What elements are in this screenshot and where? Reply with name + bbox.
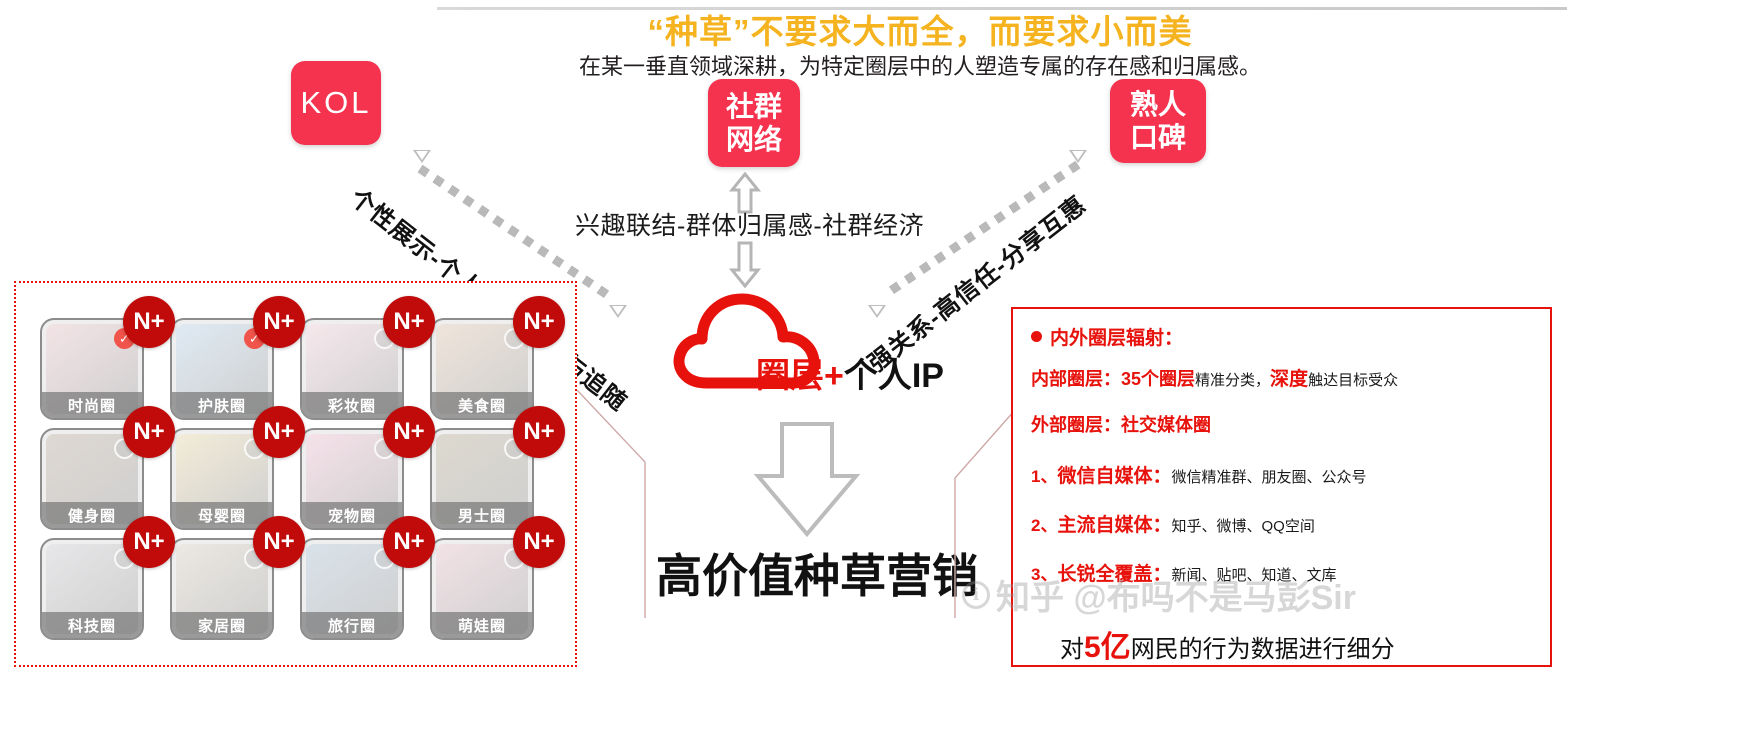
info-item-number: 3、 [1031, 565, 1057, 584]
circle-card-grid: ✓时尚圈N+✓护肤圈N+彩妆圈N+美食圈N+健身圈N+母婴圈N+宠物圈N+男士圈… [40, 318, 550, 664]
card-slot: 萌娃圈N+ [430, 538, 548, 646]
info-item-separator: ： [1152, 564, 1171, 585]
inner-circle-label: 内部圈层： [1031, 369, 1121, 389]
info-item-separator: ： [1152, 466, 1171, 487]
arrowhead-left-top-icon [413, 150, 431, 163]
card-badge-n-plus[interactable]: N+ [123, 296, 175, 348]
card-badge-n-plus[interactable]: N+ [123, 406, 175, 458]
inner-circle-mid: 精准分类， [1195, 372, 1270, 389]
middle-connector-label: 兴趣联结-群体归属感-社群经济 [575, 206, 924, 242]
arrow-down-icon [729, 240, 761, 288]
footer-number: 5亿 [1084, 631, 1131, 664]
arrowhead-right-bottom-icon [868, 305, 886, 318]
footer-note: 对5亿网民的行为数据进行细分 [1060, 622, 1530, 666]
card-label: 美食圈 [432, 392, 532, 418]
node-kol-label: KOL [300, 85, 371, 121]
info-panel: 内外圈层辐射： 内部圈层：35个圈层精准分类，深度触达目标受众 外部圈层：社交媒… [1011, 307, 1552, 667]
node-kol[interactable]: KOL [291, 61, 381, 145]
info-panel-item: 2、主流自媒体：知乎、微博、QQ空间 [1031, 510, 1534, 537]
card-label: 旅行圈 [302, 612, 402, 638]
info-item-value: 新闻、贴吧、知道、文库 [1172, 567, 1337, 584]
card-label: 护肤圈 [172, 392, 272, 418]
card-slot: 旅行圈N+ [300, 538, 418, 646]
card-label: 萌娃圈 [432, 612, 532, 638]
card-label: 母婴圈 [172, 502, 272, 528]
card-label: 家居圈 [172, 612, 272, 638]
card-badge-n-plus[interactable]: N+ [253, 516, 305, 568]
info-panel-heading-text: 内外圈层辐射： [1050, 323, 1183, 350]
info-panel-item: 1、微信自媒体：微信精准群、朋友圈、公众号 [1031, 461, 1534, 488]
arrowhead-left-bottom-icon [609, 305, 627, 318]
card-label: 时尚圈 [42, 392, 142, 418]
card-label: 男士圈 [432, 502, 532, 528]
inner-circle-tail: 触达目标受众 [1308, 372, 1398, 389]
card-badge-n-plus[interactable]: N+ [513, 516, 565, 568]
card-slot: 科技圈N+ [40, 538, 158, 646]
card-badge-n-plus[interactable]: N+ [383, 516, 435, 568]
info-item-name: 长锐全覆盖 [1057, 564, 1152, 585]
card-badge-n-plus[interactable]: N+ [253, 406, 305, 458]
info-item-separator: ： [1152, 515, 1171, 536]
card-badge-n-plus[interactable]: N+ [513, 406, 565, 458]
inner-circle-emphasis: 深度 [1270, 369, 1308, 390]
node-community-network[interactable]: 社群 网络 [708, 79, 800, 167]
node-wom-line1: 熟人 [1130, 88, 1186, 121]
info-item-value: 知乎、微博、QQ空间 [1172, 518, 1315, 535]
slide-canvas: “种草”不要求大而全，而要求小而美 在某一垂直领域深耕，为特定圈层中的人塑造专属… [0, 0, 1756, 752]
page-subtitle: 在某一垂直领域深耕，为特定圈层中的人塑造专属的存在感和归属感。 [420, 49, 1420, 81]
card-label: 科技圈 [42, 612, 142, 638]
inner-circle-count: 35个圈层 [1121, 369, 1195, 389]
info-item-name: 主流自媒体 [1057, 515, 1152, 536]
panel-connector-lines [575, 390, 1045, 620]
node-community-line2: 网络 [726, 123, 782, 156]
card-badge-n-plus[interactable]: N+ [383, 406, 435, 458]
page-title: “种草”不要求大而全，而要求小而美 [470, 5, 1370, 53]
outer-circle-row: 外部圈层：社交媒体圈 [1031, 411, 1534, 437]
outer-circle-label: 外部圈层：社交媒体圈 [1031, 415, 1211, 435]
card-label: 彩妆圈 [302, 392, 402, 418]
info-item-name: 微信自媒体 [1057, 466, 1152, 487]
info-panel-item: 3、长锐全覆盖：新闻、贴吧、知道、文库 [1031, 559, 1534, 586]
card-slot: 家居圈N+ [170, 538, 288, 646]
node-community-line1: 社群 [726, 90, 782, 123]
info-item-value: 微信精准群、朋友圈、公众号 [1172, 469, 1367, 486]
card-badge-n-plus[interactable]: N+ [513, 296, 565, 348]
info-item-number: 1、 [1031, 467, 1057, 486]
card-badge-n-plus[interactable]: N+ [383, 296, 435, 348]
arrowhead-right-top-icon [1069, 150, 1087, 163]
footer-pre: 对 [1060, 636, 1084, 663]
node-wom-line2: 口碑 [1130, 121, 1186, 154]
footer-post: 网民的行为数据进行细分 [1131, 636, 1395, 663]
bullet-dot-icon [1031, 331, 1042, 342]
card-badge-n-plus[interactable]: N+ [253, 296, 305, 348]
card-badge-n-plus[interactable]: N+ [123, 516, 175, 568]
info-panel-heading: 内外圈层辐射： [1031, 323, 1534, 350]
inner-circle-row: 内部圈层：35个圈层精准分类，深度触达目标受众 [1031, 364, 1534, 391]
info-panel-item-list: 1、微信自媒体：微信精准群、朋友圈、公众号2、主流自媒体：知乎、微博、QQ空间3… [1031, 461, 1534, 586]
card-label: 宠物圈 [302, 502, 402, 528]
info-item-number: 2、 [1031, 516, 1057, 535]
card-label: 健身圈 [42, 502, 142, 528]
node-word-of-mouth[interactable]: 熟人 口碑 [1110, 79, 1206, 163]
